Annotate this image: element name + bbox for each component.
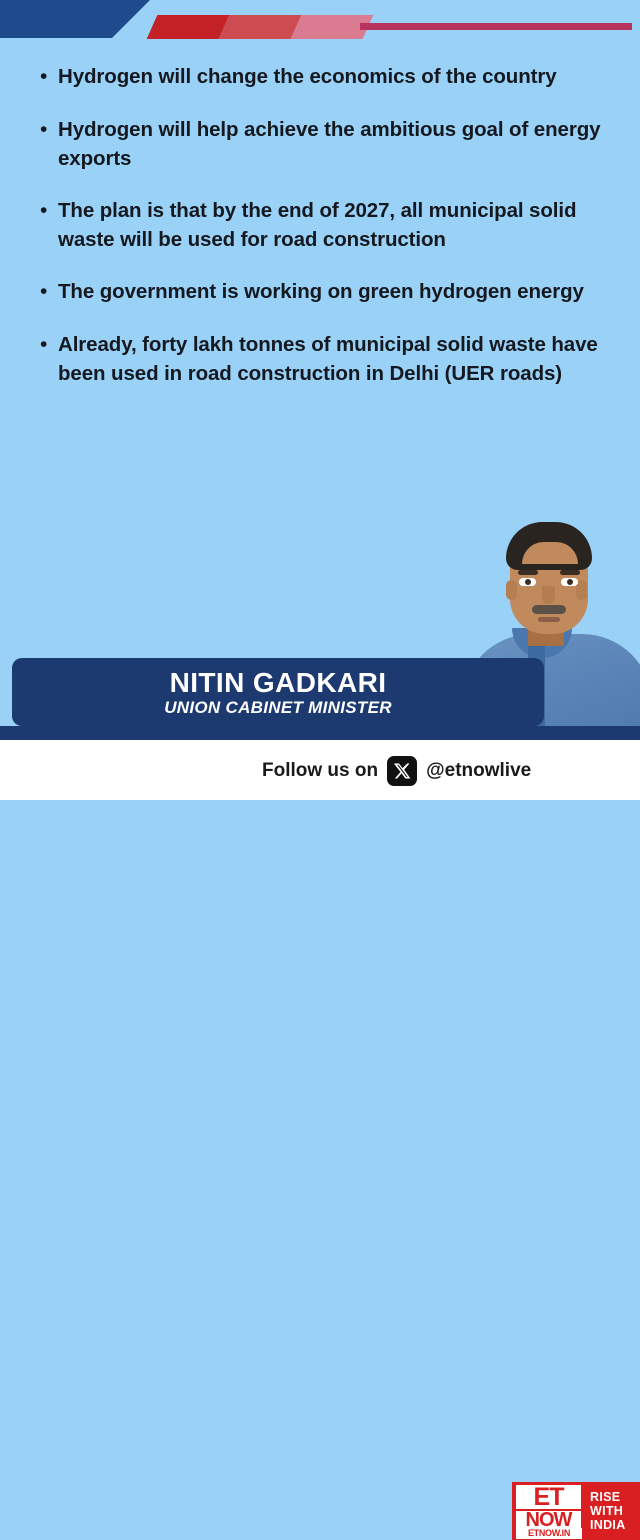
list-item: • Hydrogen will change the economics of …	[0, 62, 640, 92]
etnow-logo-mark: ET NOW ETNOW.IN	[512, 1482, 584, 1540]
bullet-text: Hydrogen will help achieve the ambitious…	[58, 115, 614, 173]
social-handle[interactable]: @etnowlive	[426, 760, 531, 782]
photo-moustache	[532, 605, 566, 614]
follow-label: Follow us on	[262, 760, 378, 782]
etnow-logo-et: ET	[516, 1485, 581, 1509]
photo-eyebrow-right	[560, 570, 580, 575]
photo-eye-left	[519, 578, 536, 586]
tagline-line-1: RISE	[590, 1490, 640, 1504]
person-title: UNION CABINET MINISTER	[164, 698, 392, 718]
x-twitter-icon[interactable]	[387, 756, 417, 786]
bullet-text: Already, forty lakh tonnes of municipal …	[58, 330, 614, 388]
photo-eye-right	[561, 578, 578, 586]
etnow-logo-url: ETNOW.IN	[516, 1528, 582, 1539]
tagline-line-2: WITH	[590, 1504, 640, 1518]
header-navy-shape	[0, 0, 150, 38]
list-item: • Already, forty lakh tonnes of municipa…	[0, 330, 640, 388]
bullet-point-icon: •	[40, 196, 58, 254]
header-accent-line	[360, 23, 632, 30]
bullet-list: • Hydrogen will change the economics of …	[0, 62, 640, 411]
photo-ear-left	[506, 580, 517, 600]
header-decoration-bar	[0, 0, 640, 48]
tagline-line-3: INDIA	[590, 1518, 640, 1532]
photo-mouth	[538, 617, 560, 622]
footer: Follow us on @etnowlive ET NOW ETNOW.IN …	[0, 740, 640, 800]
bullet-point-icon: •	[40, 115, 58, 173]
follow-us-group[interactable]: Follow us on @etnowlive	[262, 756, 531, 786]
bullet-point-icon: •	[40, 330, 58, 388]
name-banner: NITIN GADKARI UNION CABINET MINISTER	[12, 658, 544, 726]
header-red-bar-2	[219, 15, 302, 39]
photo-hair	[506, 522, 592, 570]
bullet-text: The government is working on green hydro…	[58, 277, 614, 307]
banner-bottom-strip	[0, 726, 640, 740]
bullet-text: The plan is that by the end of 2027, all…	[58, 196, 614, 254]
list-item: • Hydrogen will help achieve the ambitio…	[0, 115, 640, 173]
etnow-logo: ET NOW ETNOW.IN RISE WITH INDIA	[512, 1482, 640, 1540]
bullet-point-icon: •	[40, 62, 58, 92]
header-red-bar-1	[147, 15, 230, 39]
list-item: • The government is working on green hyd…	[0, 277, 640, 307]
bullet-text: Hydrogen will change the economics of th…	[58, 62, 614, 92]
list-item: • The plan is that by the end of 2027, a…	[0, 196, 640, 254]
bullet-point-icon: •	[40, 277, 58, 307]
photo-nose	[542, 586, 555, 604]
person-name: NITIN GADKARI	[170, 667, 387, 698]
etnow-tagline: RISE WITH INDIA	[584, 1482, 640, 1540]
photo-eyebrow-left	[518, 570, 538, 575]
